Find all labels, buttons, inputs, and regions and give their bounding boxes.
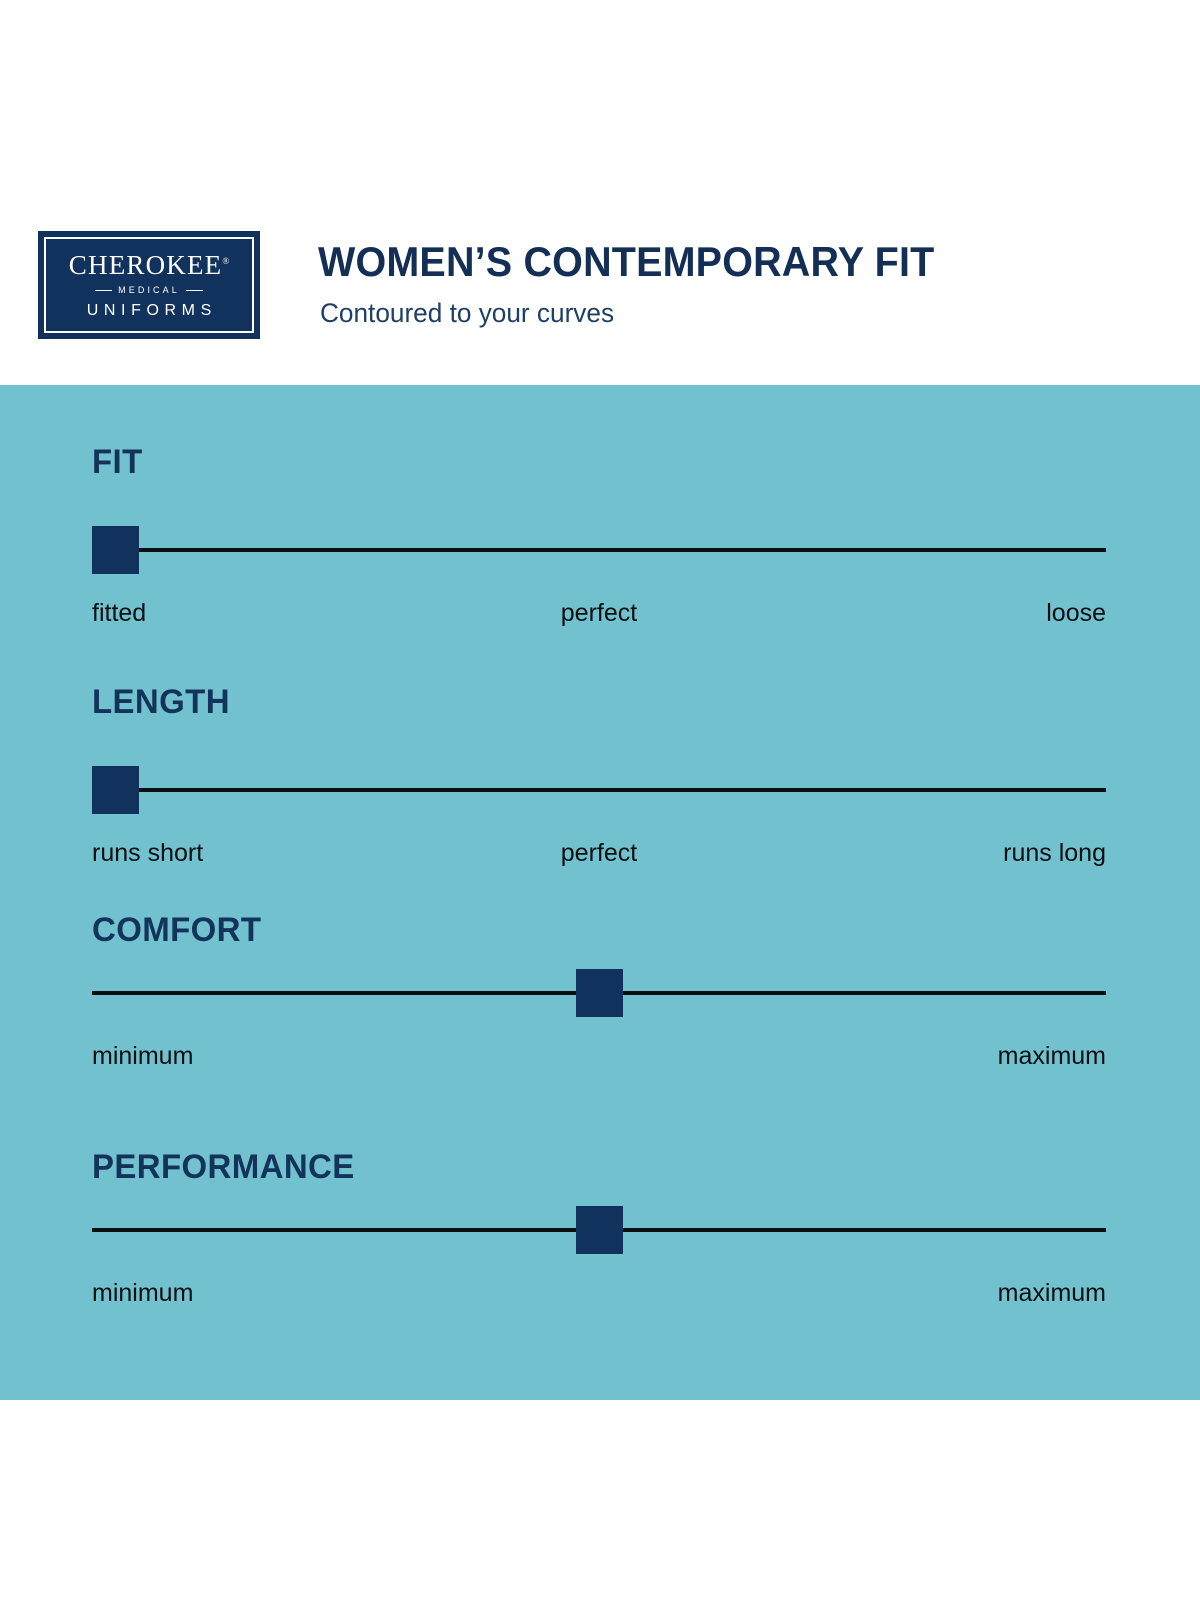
scale-comfort-label-left: minimum xyxy=(92,1039,193,1073)
scale-performance-track[interactable] xyxy=(92,1206,1106,1254)
scale-fit-title: FIT xyxy=(92,445,143,479)
scale-comfort-title: COMFORT xyxy=(92,913,261,947)
registered-trademark-icon: ® xyxy=(222,256,229,266)
scale-performance: PERFORMANCE minimum maximum xyxy=(0,1150,1200,1335)
scale-length: LENGTH runs short perfect runs long xyxy=(0,685,1200,870)
scale-length-label-center: perfect xyxy=(561,836,637,870)
scale-fit-label-center: perfect xyxy=(561,596,637,630)
scale-performance-label-left: minimum xyxy=(92,1276,193,1310)
logo-uniforms-text: UNIFORMS xyxy=(81,303,217,319)
scale-comfort: COMFORT minimum maximum xyxy=(0,913,1200,1098)
scale-fit-marker[interactable] xyxy=(92,526,139,574)
logo-brand-text: CHEROKEE xyxy=(69,250,223,280)
cherokee-medical-uniforms-logo[interactable]: CHEROKEE® MEDICAL UNIFORMS xyxy=(38,231,260,339)
scale-performance-label-right: maximum xyxy=(998,1276,1106,1310)
scale-performance-title: PERFORMANCE xyxy=(92,1150,355,1184)
logo-rule-left-icon xyxy=(95,290,112,291)
logo-medical-text: MEDICAL xyxy=(118,286,180,295)
scale-comfort-label-right: maximum xyxy=(998,1039,1106,1073)
scale-comfort-track[interactable] xyxy=(92,969,1106,1017)
scale-length-labels: runs short perfect runs long xyxy=(92,836,1106,870)
scale-fit-label-right: loose xyxy=(1046,596,1106,630)
scale-length-label-left: runs short xyxy=(92,836,203,870)
scale-performance-labels: minimum maximum xyxy=(92,1276,1106,1310)
scale-length-title: LENGTH xyxy=(92,685,230,719)
scale-performance-marker[interactable] xyxy=(576,1206,623,1254)
logo-inner-border: CHEROKEE® MEDICAL UNIFORMS xyxy=(44,237,254,333)
logo-rule-right-icon xyxy=(186,290,203,291)
scale-fit-labels: fitted perfect loose xyxy=(92,596,1106,630)
fit-guide-panel: FIT fitted perfect loose LENGTH runs sho… xyxy=(0,385,1200,1400)
scale-length-label-right: runs long xyxy=(1003,836,1106,870)
logo-brand-name: CHEROKEE® xyxy=(69,252,229,279)
page-subtitle: Contoured to your curves xyxy=(320,298,614,329)
scale-comfort-marker[interactable] xyxy=(576,969,623,1017)
scale-fit-label-left: fitted xyxy=(92,596,146,630)
logo-medical-row: MEDICAL xyxy=(95,286,203,295)
scale-comfort-labels: minimum maximum xyxy=(92,1039,1106,1073)
scale-length-track[interactable] xyxy=(92,766,1106,814)
page-title: WOMEN’S CONTEMPORARY FIT xyxy=(318,240,934,284)
scale-length-marker[interactable] xyxy=(92,766,139,814)
scale-length-track-line xyxy=(92,788,1106,792)
scale-fit: FIT fitted perfect loose xyxy=(0,445,1200,630)
scale-fit-track-line xyxy=(92,548,1106,552)
page-header: CHEROKEE® MEDICAL UNIFORMS WOMEN’S CONTE… xyxy=(0,0,1200,385)
scale-fit-track[interactable] xyxy=(92,526,1106,574)
